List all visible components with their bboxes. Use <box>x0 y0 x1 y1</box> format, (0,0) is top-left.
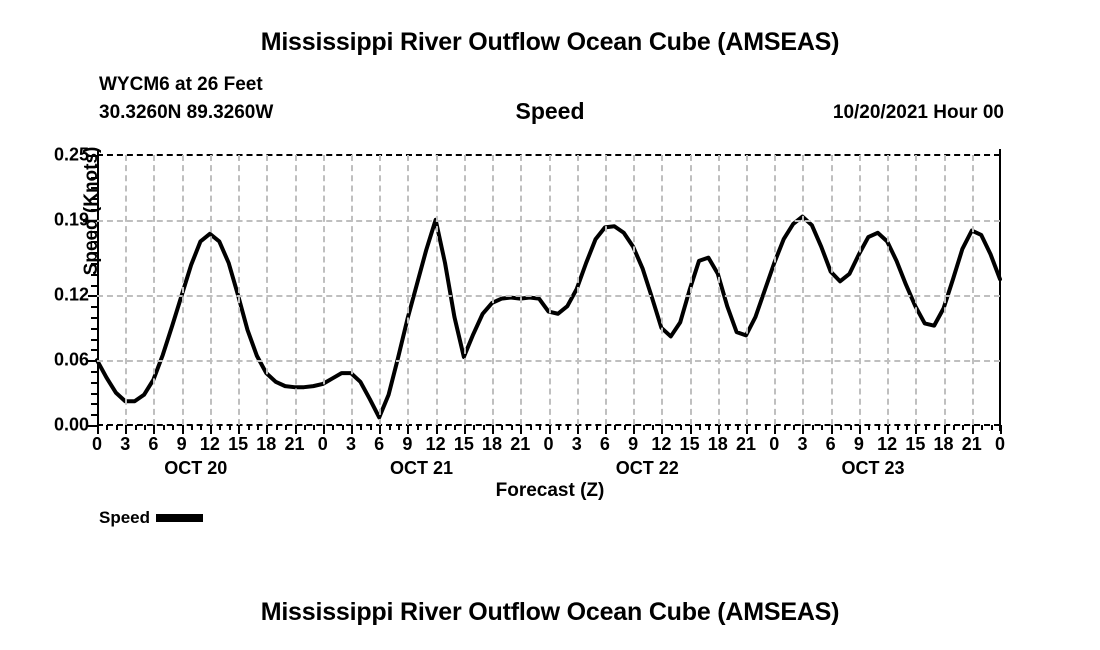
x-axis-minor-tick <box>925 425 927 430</box>
x-axis-minor-tick <box>257 425 259 430</box>
y-axis-minor-tick <box>91 231 97 233</box>
x-axis-minor-tick <box>727 425 729 430</box>
x-axis-minor-tick <box>878 425 880 430</box>
gridline-vertical <box>238 155 240 425</box>
x-axis-tick-label: 0 <box>995 434 1005 455</box>
x-axis-day-label: OCT 23 <box>842 458 905 479</box>
y-axis-minor-tick <box>91 252 97 254</box>
x-axis-tick <box>859 425 861 434</box>
x-axis-minor-tick <box>586 425 588 430</box>
x-axis-minor-tick <box>708 425 710 430</box>
x-axis-tick <box>549 425 551 434</box>
x-axis-minor-tick <box>106 425 108 430</box>
x-axis-tick <box>915 425 917 434</box>
x-axis-tick <box>972 425 974 434</box>
y-axis-minor-tick <box>91 177 97 179</box>
x-axis-tick <box>125 425 127 434</box>
x-axis-tick-label: 0 <box>543 434 553 455</box>
x-axis-minor-tick <box>285 425 287 430</box>
y-axis-minor-tick <box>91 414 97 416</box>
x-axis-minor-tick <box>962 425 964 430</box>
x-axis-tick <box>802 425 804 434</box>
gridline-vertical <box>718 155 720 425</box>
gridline-vertical <box>859 155 861 425</box>
x-axis-minor-tick <box>332 425 334 430</box>
y-axis-tick <box>88 155 97 157</box>
x-axis-minor-tick <box>342 425 344 430</box>
x-axis-minor-tick <box>501 425 503 430</box>
x-axis-tick <box>323 425 325 434</box>
x-axis-minor-tick <box>981 425 983 430</box>
x-axis-tick-label: 3 <box>346 434 356 455</box>
y-axis-minor-tick <box>91 339 97 341</box>
x-axis-tick <box>407 425 409 434</box>
x-axis-minor-tick <box>699 425 701 430</box>
y-axis-minor-tick <box>91 403 97 405</box>
x-axis-minor-tick <box>868 425 870 430</box>
y-axis-tick <box>88 425 97 427</box>
x-axis-minor-tick <box>737 425 739 430</box>
x-axis-day-label: OCT 22 <box>616 458 679 479</box>
y-axis-tick-label: 0.00 <box>54 415 89 436</box>
x-axis-tick <box>351 425 353 434</box>
x-axis-tick <box>520 425 522 434</box>
x-axis-tick-label: 0 <box>769 434 779 455</box>
x-axis-tick-label: 15 <box>454 434 474 455</box>
x-axis-tick-label: 18 <box>482 434 502 455</box>
gridline-vertical <box>944 155 946 425</box>
x-axis-tick <box>718 425 720 434</box>
gridline-vertical <box>153 155 155 425</box>
x-axis-minor-tick <box>680 425 682 430</box>
y-axis-tick <box>88 360 97 362</box>
gridline-vertical <box>577 155 579 425</box>
footer-title: Mississippi River Outflow Ocean Cube (AM… <box>0 598 1100 627</box>
x-axis-minor-tick <box>897 425 899 430</box>
x-axis-minor-tick <box>906 425 908 430</box>
model-run-time: 10/20/2021 Hour 00 <box>833 102 1004 124</box>
x-axis-minor-tick <box>229 425 231 430</box>
x-axis-minor-tick <box>417 425 419 430</box>
x-axis-tick-label: 3 <box>797 434 807 455</box>
x-axis-minor-tick <box>200 425 202 430</box>
gridline-vertical <box>633 155 635 425</box>
x-axis-tick <box>379 425 381 434</box>
gridline-vertical <box>182 155 184 425</box>
x-axis-tick-label: 9 <box>402 434 412 455</box>
x-axis-tick-label: 18 <box>934 434 954 455</box>
gridline-vertical <box>746 155 748 425</box>
y-axis-minor-tick <box>91 187 97 189</box>
gridline-vertical <box>379 155 381 425</box>
x-axis-minor-tick <box>793 425 795 430</box>
x-axis-tick <box>492 425 494 434</box>
station-label: WYCM6 at 26 Feet <box>99 74 263 96</box>
x-axis-tick <box>210 425 212 434</box>
x-axis-minor-tick <box>473 425 475 430</box>
x-axis-tick-label: 21 <box>736 434 756 455</box>
x-axis-tick-label: 12 <box>200 434 220 455</box>
x-axis-tick <box>238 425 240 434</box>
x-axis-tick <box>97 425 99 434</box>
x-axis-minor-tick <box>116 425 118 430</box>
gridline-vertical <box>915 155 917 425</box>
x-axis-tick-label: 21 <box>962 434 982 455</box>
x-axis-tick <box>1000 425 1002 434</box>
y-axis-minor-tick <box>91 274 97 276</box>
x-axis-tick <box>831 425 833 434</box>
x-axis-tick <box>661 425 663 434</box>
x-axis-tick <box>295 425 297 434</box>
x-axis-minor-tick <box>370 425 372 430</box>
gridline-vertical <box>972 155 974 425</box>
x-axis-minor-tick <box>596 425 598 430</box>
gridline-vertical <box>802 155 804 425</box>
x-axis-tick-label: 6 <box>374 434 384 455</box>
y-axis-minor-tick <box>91 209 97 211</box>
gridline-vertical <box>774 155 776 425</box>
x-axis-minor-tick <box>558 425 560 430</box>
x-axis-tick <box>266 425 268 434</box>
x-axis-tick-label: 6 <box>600 434 610 455</box>
x-axis-minor-tick <box>840 425 842 430</box>
gridline-vertical <box>549 155 551 425</box>
y-axis-minor-tick <box>91 166 97 168</box>
y-axis-minor-tick <box>91 349 97 351</box>
x-axis-tick-label: 9 <box>854 434 864 455</box>
x-axis-minor-tick <box>454 425 456 430</box>
x-axis-minor-tick <box>172 425 174 430</box>
page-title: Mississippi River Outflow Ocean Cube (AM… <box>0 28 1100 57</box>
x-axis-minor-tick <box>445 425 447 430</box>
x-axis-minor-tick <box>426 425 428 430</box>
legend: Speed <box>99 508 203 528</box>
y-axis-minor-tick <box>91 317 97 319</box>
gridline-vertical <box>690 155 692 425</box>
x-axis-minor-tick <box>483 425 485 430</box>
x-axis-minor-tick <box>511 425 513 430</box>
x-axis-day-label: OCT 21 <box>390 458 453 479</box>
gridline-vertical <box>323 155 325 425</box>
x-axis-tick <box>577 425 579 434</box>
x-axis-tick-label: 21 <box>510 434 530 455</box>
y-axis-minor-tick <box>91 306 97 308</box>
x-axis-tick-labels: 0369121518210369121518210369121518210369… <box>97 434 1000 458</box>
x-axis-day-labels: OCT 20OCT 21OCT 22OCT 23 <box>97 458 1000 482</box>
x-axis-minor-tick <box>934 425 936 430</box>
x-axis-minor-tick <box>812 425 814 430</box>
y-axis-tick-label: 0.25 <box>54 145 89 166</box>
x-axis-tick-label: 15 <box>905 434 925 455</box>
legend-label: Speed <box>99 508 150 528</box>
x-axis-minor-tick <box>991 425 993 430</box>
gridline-vertical <box>661 155 663 425</box>
x-axis-tick-label: 6 <box>826 434 836 455</box>
x-axis-tick-label: 9 <box>628 434 638 455</box>
y-axis-tick-label: 0.19 <box>54 209 89 230</box>
x-axis-tick-label: 15 <box>680 434 700 455</box>
x-axis-minor-tick <box>304 425 306 430</box>
x-axis-tick-label: 3 <box>572 434 582 455</box>
plot-area <box>97 155 1000 425</box>
y-axis-tick <box>88 220 97 222</box>
x-axis-minor-tick <box>953 425 955 430</box>
legend-line-swatch <box>156 514 203 522</box>
x-axis-minor-tick <box>530 425 532 430</box>
x-axis-tick-label: 15 <box>228 434 248 455</box>
gridline-vertical <box>266 155 268 425</box>
y-axis-minor-tick <box>91 285 97 287</box>
gridline-vertical <box>436 155 438 425</box>
chart-page: Mississippi River Outflow Ocean Cube (AM… <box>0 0 1100 650</box>
x-axis-tick-label: 18 <box>256 434 276 455</box>
x-axis-minor-tick <box>765 425 767 430</box>
gridline-vertical <box>520 155 522 425</box>
x-axis-minor-tick <box>144 425 146 430</box>
x-axis-tick-label: 0 <box>92 434 102 455</box>
x-axis-minor-tick <box>398 425 400 430</box>
x-axis-tick <box>944 425 946 434</box>
x-axis-tick-label: 3 <box>120 434 130 455</box>
x-axis-tick-label: 9 <box>177 434 187 455</box>
x-axis-tick <box>436 425 438 434</box>
x-axis-tick-label: 18 <box>708 434 728 455</box>
x-axis-tick-label: 12 <box>651 434 671 455</box>
x-axis-day-label: OCT 20 <box>164 458 227 479</box>
x-axis-tick <box>464 425 466 434</box>
y-axis-minor-tick <box>91 198 97 200</box>
x-axis-minor-tick <box>191 425 193 430</box>
x-axis-minor-tick <box>784 425 786 430</box>
gridline-vertical <box>407 155 409 425</box>
x-axis-tick <box>633 425 635 434</box>
x-axis-tick-label: 6 <box>148 434 158 455</box>
y-axis-tick-label: 0.12 <box>54 285 89 306</box>
x-axis-minor-tick <box>624 425 626 430</box>
x-axis-minor-tick <box>643 425 645 430</box>
y-axis-minor-tick <box>91 328 97 330</box>
x-axis-minor-tick <box>163 425 165 430</box>
x-axis-tick-label: 0 <box>318 434 328 455</box>
x-axis-minor-tick <box>567 425 569 430</box>
x-axis-minor-tick <box>219 425 221 430</box>
y-axis-minor-tick <box>91 241 97 243</box>
x-axis-tick <box>605 425 607 434</box>
x-axis-minor-tick <box>850 425 852 430</box>
gridline-vertical <box>887 155 889 425</box>
gridline-vertical <box>295 155 297 425</box>
x-axis-minor-tick <box>389 425 391 430</box>
gridline-vertical <box>605 155 607 425</box>
y-axis-tick <box>88 295 97 297</box>
x-axis-minor-tick <box>135 425 137 430</box>
x-axis-tick-label: 21 <box>285 434 305 455</box>
x-axis-title: Forecast (Z) <box>0 480 1100 502</box>
y-axis-minor-tick <box>91 371 97 373</box>
gridline-vertical <box>125 155 127 425</box>
x-axis-minor-tick <box>313 425 315 430</box>
x-axis-tick-label: 12 <box>877 434 897 455</box>
gridline-vertical <box>210 155 212 425</box>
gridline-vertical <box>464 155 466 425</box>
x-axis-tick <box>746 425 748 434</box>
x-axis-minor-tick <box>360 425 362 430</box>
x-axis-minor-tick <box>755 425 757 430</box>
x-axis-tick-label: 12 <box>426 434 446 455</box>
gridline-vertical <box>351 155 353 425</box>
gridline-vertical <box>831 155 833 425</box>
x-axis-tick <box>153 425 155 434</box>
y-axis-tick-label: 0.06 <box>54 350 89 371</box>
y-axis-minor-tick <box>91 263 97 265</box>
x-axis-minor-tick <box>539 425 541 430</box>
x-axis-minor-tick <box>276 425 278 430</box>
y-axis-tick-labels: 0.000.060.120.190.25 <box>33 155 89 425</box>
x-axis-tick <box>690 425 692 434</box>
x-axis-minor-tick <box>671 425 673 430</box>
y-axis-minor-tick <box>91 382 97 384</box>
x-axis-minor-tick <box>821 425 823 430</box>
x-axis-minor-tick <box>248 425 250 430</box>
x-axis-tick <box>774 425 776 434</box>
x-axis-minor-tick <box>614 425 616 430</box>
gridline-vertical <box>492 155 494 425</box>
x-axis-minor-tick <box>652 425 654 430</box>
x-axis-tick <box>887 425 889 434</box>
x-axis-tick <box>182 425 184 434</box>
y-axis-minor-tick <box>91 393 97 395</box>
